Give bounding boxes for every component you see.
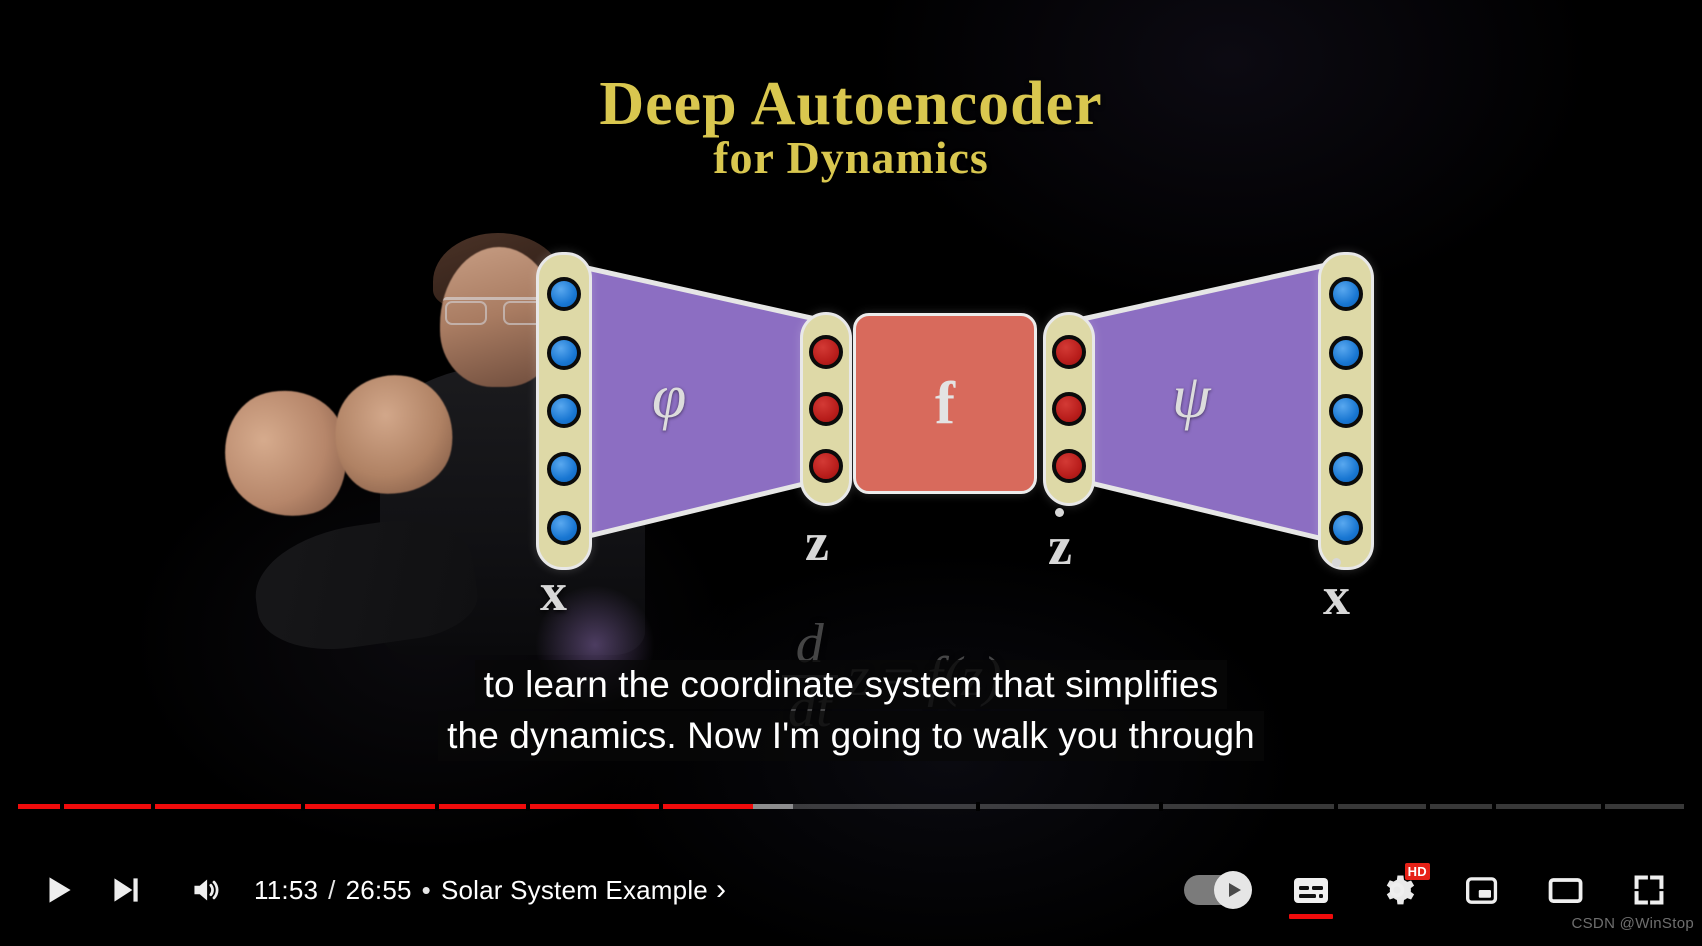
- progress-bar[interactable]: [18, 804, 1684, 809]
- player-controls: Play Next Mute: [0, 778, 1702, 946]
- fullscreen-button[interactable]: Full screen: [1618, 859, 1680, 921]
- presenter-figure: [215, 225, 645, 645]
- caption-line-2: the dynamics. Now I'm going to walk you …: [438, 711, 1264, 760]
- chapter-marker: [435, 802, 439, 811]
- current-time: 11:53: [254, 875, 318, 906]
- controls-left: Play Next Mute: [0, 859, 726, 921]
- chapter-bullet: •: [422, 875, 431, 906]
- miniplayer-icon: [1461, 870, 1501, 910]
- subtitles-button[interactable]: Subtitles/closed captions: [1280, 859, 1342, 921]
- chapter-marker: [1426, 802, 1430, 811]
- theater-mode-icon: [1544, 870, 1586, 910]
- watermark: CSDN @WinStop: [1572, 915, 1695, 932]
- controls-row: Play Next Mute: [0, 840, 1702, 940]
- chevron-right-icon: ›: [716, 875, 726, 905]
- subtitles-active-indicator: [1289, 914, 1333, 919]
- play-button[interactable]: Play: [28, 859, 90, 921]
- fullscreen-icon: [1628, 870, 1670, 910]
- volume-button[interactable]: Mute: [174, 859, 236, 921]
- slide-title-line2: for Dynamics: [0, 135, 1702, 180]
- autoplay-toggle-knob: [1214, 871, 1252, 909]
- chapter-marker: [151, 802, 155, 811]
- caption-line-1: to learn the coordinate system that simp…: [475, 660, 1228, 709]
- quality-badge: HD: [1405, 863, 1430, 880]
- chapter-marker: [301, 802, 305, 811]
- theater-mode-button[interactable]: Theater mode: [1534, 859, 1596, 921]
- miniplayer-button[interactable]: Miniplayer: [1450, 859, 1512, 921]
- chapter-marker: [1601, 802, 1605, 811]
- chapter-marker: [1334, 802, 1338, 811]
- chapter-marker: [1159, 802, 1163, 811]
- chapter-title: Solar System Example: [441, 875, 708, 906]
- caption-container: to learn the coordinate system that simp…: [0, 660, 1702, 761]
- time-and-chapter: 11:53 / 26:55 • Solar System Example ›: [254, 875, 726, 906]
- presenter-glasses: [443, 297, 547, 322]
- chapter-marker: [659, 802, 663, 811]
- chapter-marker: [526, 802, 530, 811]
- play-triangle-icon: [1229, 883, 1241, 897]
- chapter-marker: [60, 802, 64, 811]
- settings-button[interactable]: HD Settings: [1366, 859, 1428, 921]
- controls-right: Autoplay is on Subtitles/closed captions: [1184, 859, 1702, 921]
- chapter-marker: [1492, 802, 1496, 811]
- progress-played: [18, 804, 753, 809]
- closed-captions-icon: [1289, 872, 1333, 908]
- time-separator: /: [328, 875, 335, 906]
- autoplay-toggle[interactable]: Autoplay is on: [1184, 870, 1258, 910]
- video-player: Deep Autoencoder for Dynamics φ: [0, 0, 1702, 946]
- chapter-marker: [976, 802, 980, 811]
- next-video-button[interactable]: Next: [94, 859, 156, 921]
- chapter-link[interactable]: Solar System Example ›: [441, 875, 726, 906]
- total-duration: 26:55: [346, 875, 412, 906]
- slide-title-line1: Deep Autoencoder: [0, 74, 1702, 135]
- slide-title: Deep Autoencoder for Dynamics: [0, 74, 1702, 180]
